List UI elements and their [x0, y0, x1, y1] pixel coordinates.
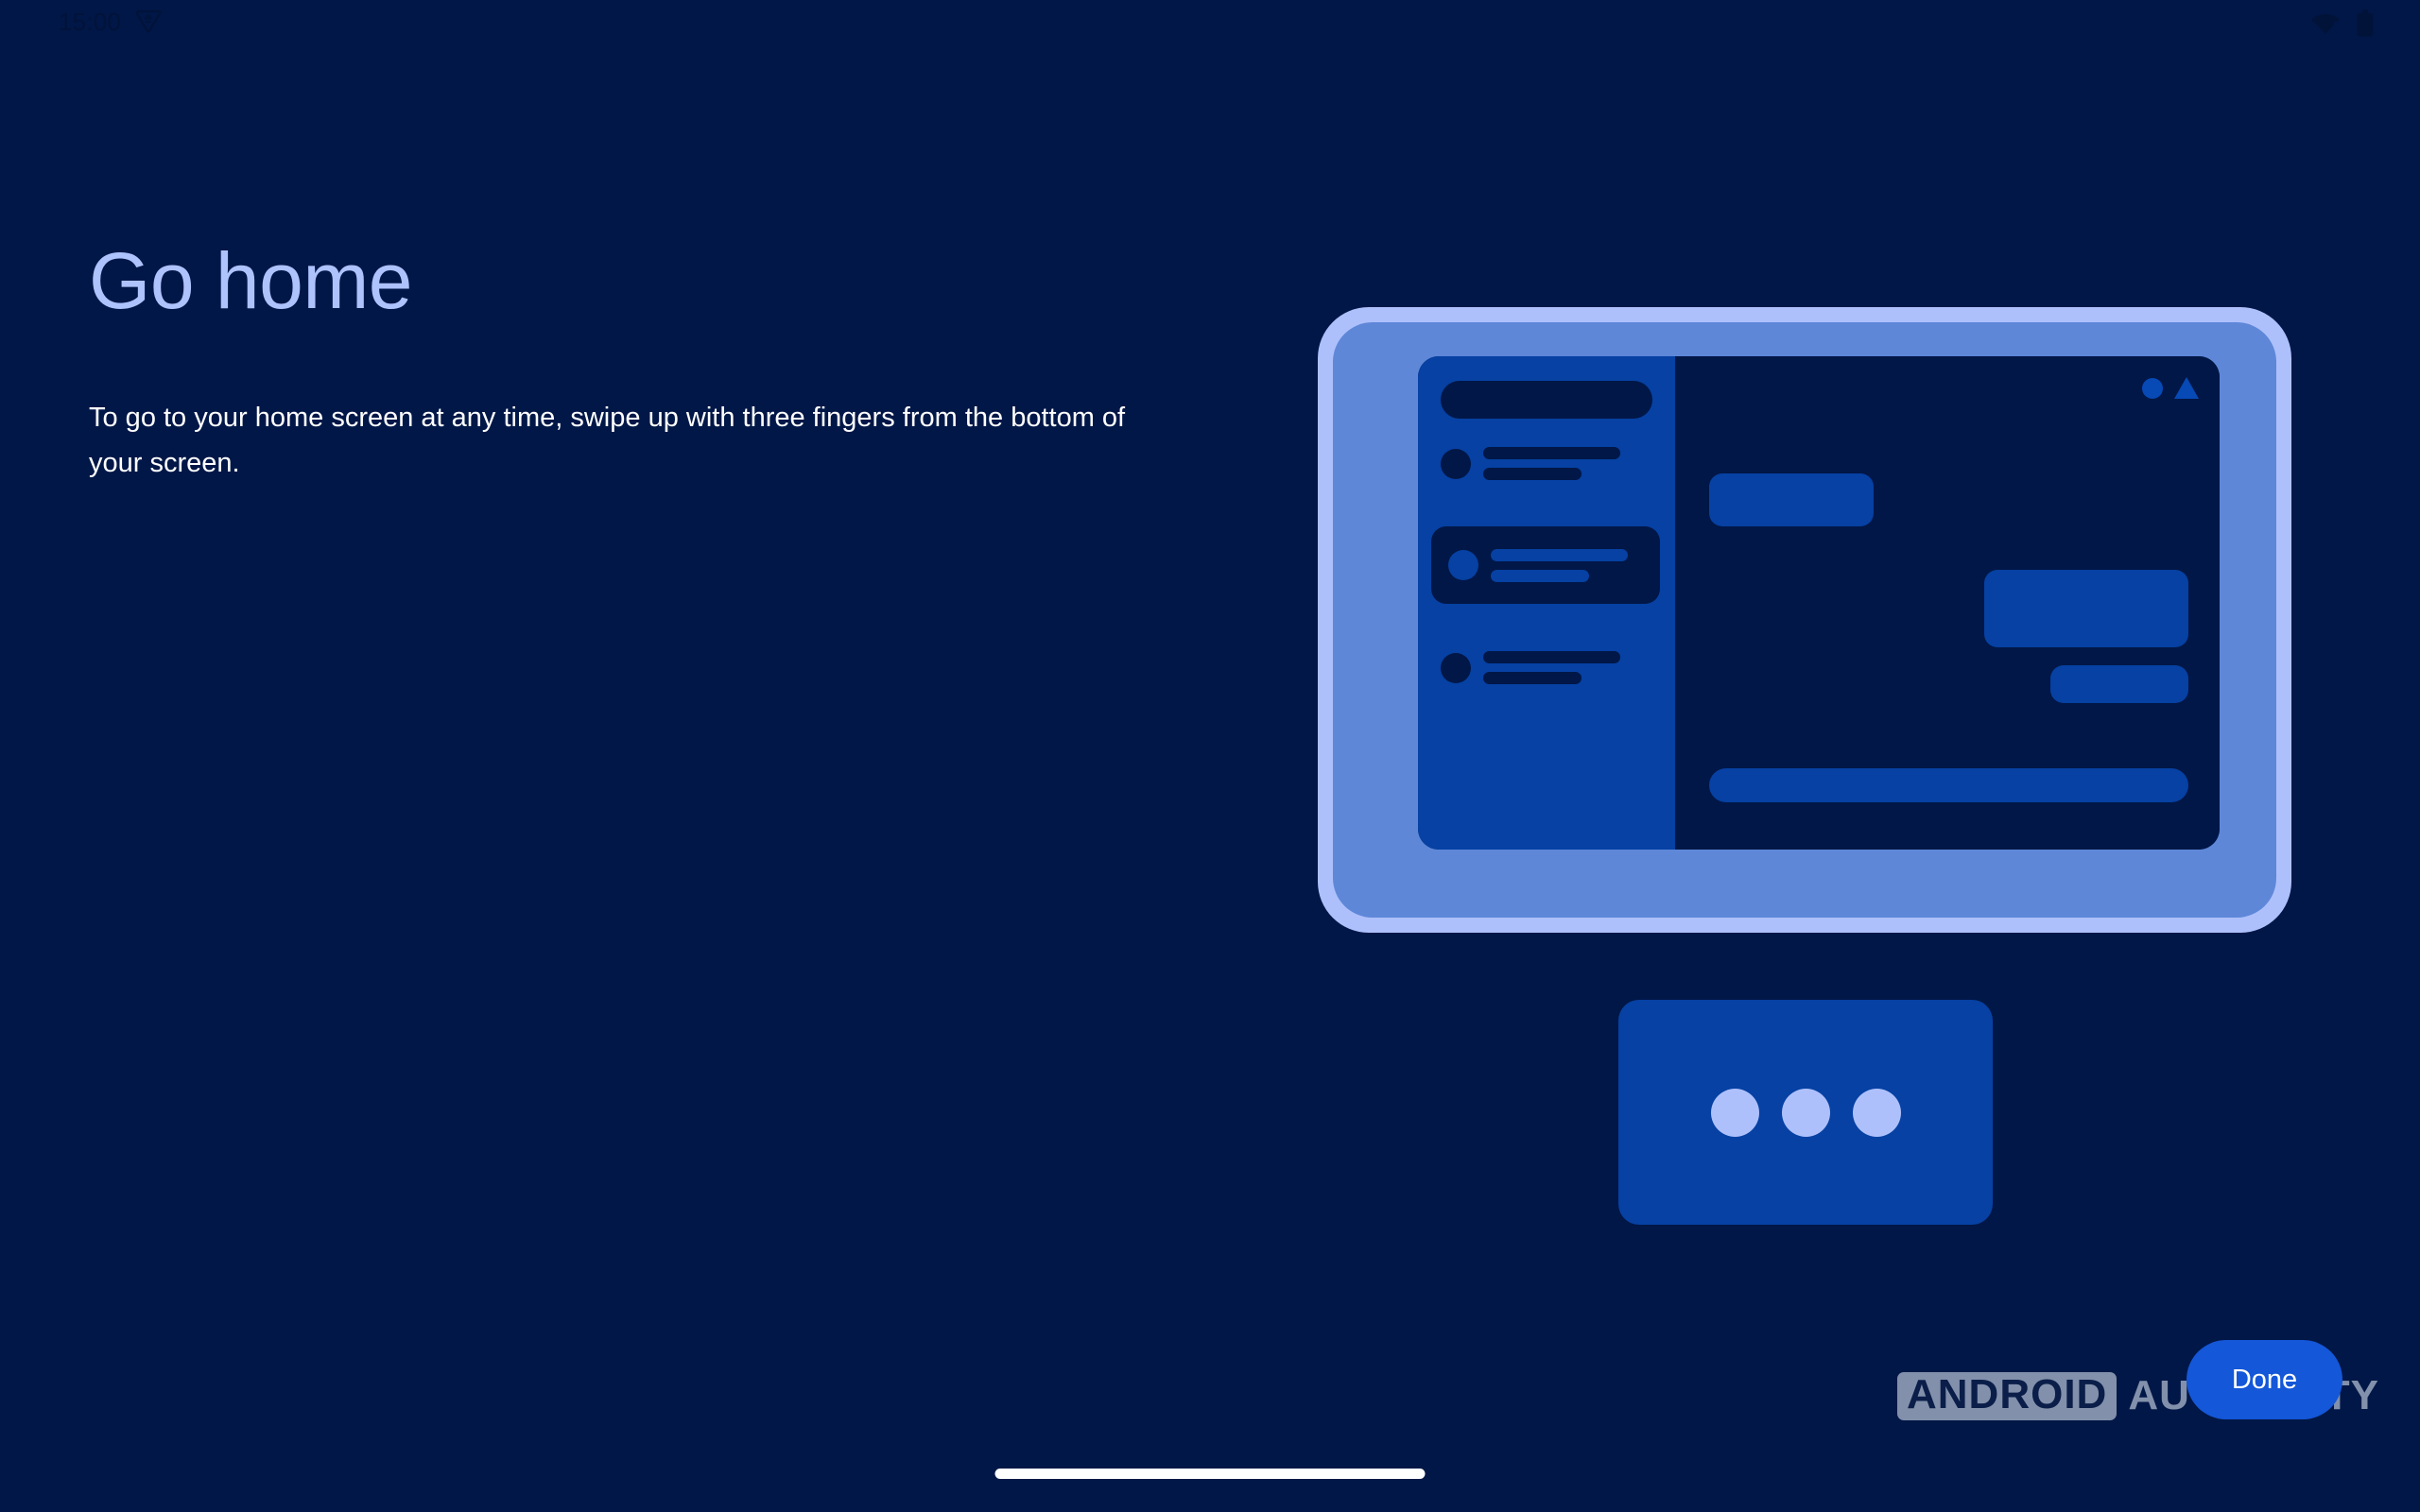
avatar-dot-icon	[1441, 653, 1471, 683]
page-description: To go to your home screen at any time, s…	[89, 395, 1143, 486]
right-panel-icons	[2142, 377, 2199, 399]
watermark-android: ANDROID	[1897, 1372, 2117, 1420]
three-finger-swipe-card	[1618, 1000, 1993, 1225]
status-bar-clock: 15:00	[59, 9, 121, 34]
list-item-line-primary	[1483, 651, 1620, 663]
content-chip-1	[1709, 473, 1874, 526]
screen-root: 15:00 Go home To go to your home screen …	[0, 0, 2420, 1512]
screen-left-panel	[1418, 356, 1675, 850]
triangle-icon	[2174, 377, 2199, 399]
status-bar: 15:00	[0, 0, 2420, 53]
list-item-selected	[1431, 526, 1660, 604]
avatar-dot-icon	[1448, 550, 1478, 580]
tablet-screen	[1418, 356, 2220, 850]
finger-dot-icon	[1782, 1089, 1830, 1137]
avatar-dot-icon	[1441, 449, 1471, 479]
home-indicator-bar[interactable]	[995, 1469, 1426, 1479]
circle-icon	[2142, 378, 2163, 399]
list-item-line-primary	[1483, 447, 1620, 459]
search-placeholder-bar	[1441, 381, 1652, 419]
tablet-frame	[1333, 322, 2276, 918]
status-bar-right	[2310, 9, 2375, 38]
content-bottom-bar	[1709, 768, 2188, 802]
list-item-lines	[1483, 651, 1620, 684]
finger-dot-icon	[1711, 1089, 1759, 1137]
status-bar-left: 15:00	[59, 8, 163, 36]
list-item-lines	[1491, 549, 1628, 582]
content-chip-2	[1984, 570, 2188, 647]
list-item-line-primary	[1491, 549, 1628, 561]
wifi-alert-icon	[2310, 10, 2341, 37]
content-chip-3	[2050, 665, 2188, 703]
page-title: Go home	[89, 241, 412, 320]
list-item-line-secondary	[1483, 672, 1582, 684]
screen-right-panel	[1675, 356, 2220, 850]
done-button[interactable]: Done	[2187, 1340, 2342, 1419]
list-item-lines	[1483, 447, 1620, 480]
vpn-key-icon	[134, 8, 163, 36]
finger-dot-icon	[1853, 1089, 1901, 1137]
list-item-line-secondary	[1483, 468, 1582, 480]
battery-icon	[2356, 9, 2375, 38]
tablet-illustration	[1318, 307, 2291, 933]
list-item-line-secondary	[1491, 570, 1589, 582]
list-item	[1441, 447, 1620, 480]
list-item	[1441, 651, 1620, 684]
